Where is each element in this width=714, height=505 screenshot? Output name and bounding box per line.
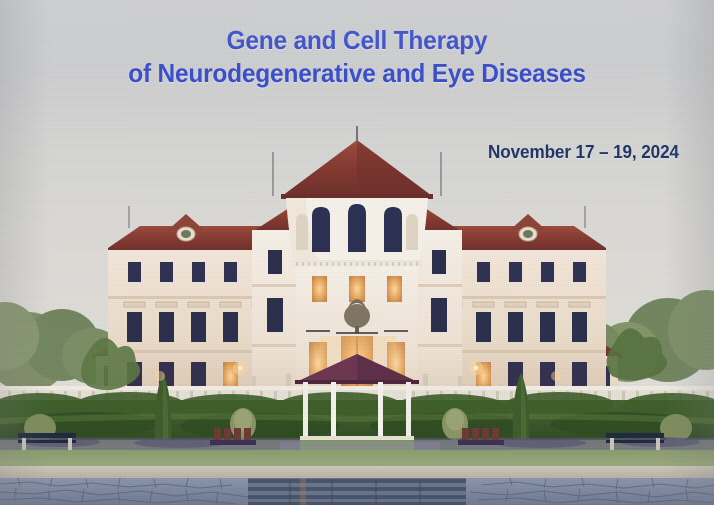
baroque-chateau-photograph <box>0 0 714 505</box>
conference-poster: Gene and Cell Therapy of Neurodegenerati… <box>0 0 714 505</box>
event-date: November 17 – 19, 2024 <box>488 142 679 163</box>
